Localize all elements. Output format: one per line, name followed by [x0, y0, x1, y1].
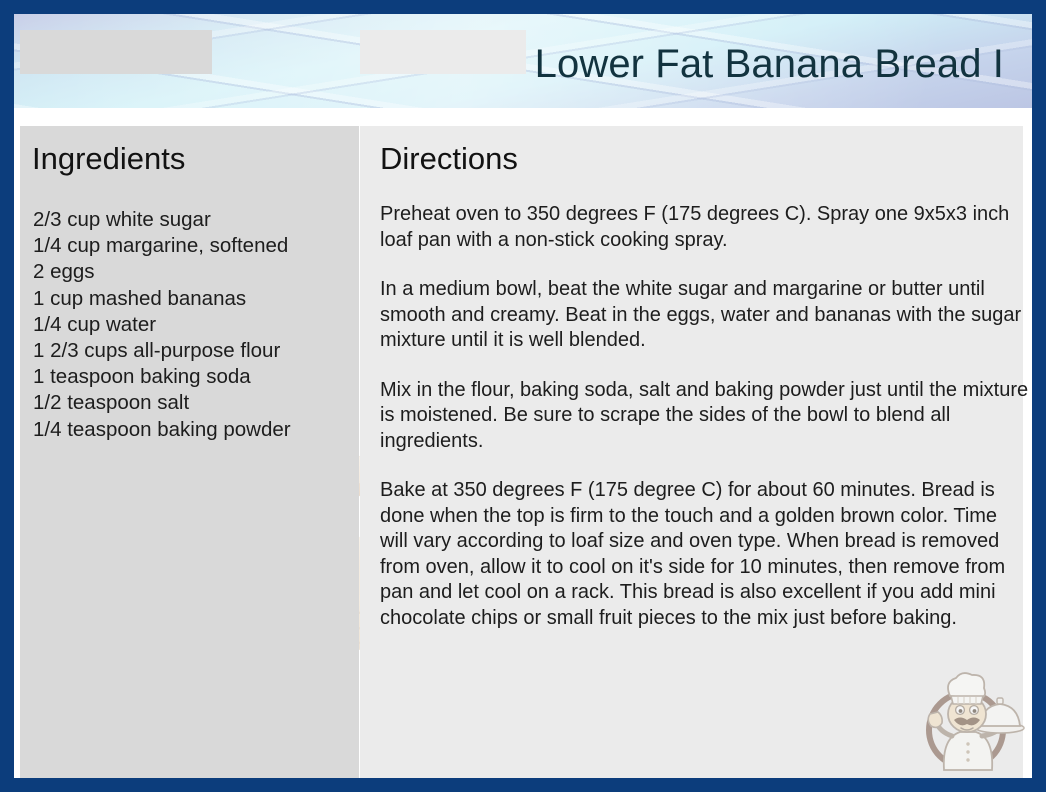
- directions-heading: Directions: [380, 141, 518, 177]
- list-item: 1/2 teaspoon salt: [33, 390, 353, 416]
- list-item: 1/4 cup margarine, softened: [33, 233, 353, 259]
- direction-step: In a medium bowl, beat the white sugar a…: [380, 277, 1030, 354]
- page-title: Lower Fat Banana Bread I: [535, 42, 1004, 87]
- direction-step: Preheat oven to 350 degrees F (175 degre…: [380, 202, 1030, 253]
- list-item: 1 cup mashed bananas: [33, 286, 353, 312]
- chef-with-platter-logo: [914, 662, 1026, 776]
- list-item: 1/4 cup water: [33, 312, 353, 338]
- slide-content-area: Lower Fat Banana Bread I: [14, 14, 1032, 778]
- list-item: 1 2/3 cups all-purpose flour: [33, 338, 353, 364]
- ingredients-tab-background: [20, 30, 212, 74]
- directions-body: Preheat oven to 350 degrees F (175 degre…: [380, 202, 1030, 631]
- ingredients-heading: Ingredients: [32, 141, 185, 177]
- recipe-slide: Lower Fat Banana Bread I: [0, 0, 1046, 792]
- list-item: 2 eggs: [33, 259, 353, 285]
- list-item: 1/4 teaspoon baking powder: [33, 417, 353, 443]
- direction-step: Mix in the flour, baking soda, salt and …: [380, 378, 1030, 455]
- list-item: 1 teaspoon baking soda: [33, 364, 353, 390]
- directions-tab-background: [360, 30, 526, 74]
- list-item: 2/3 cup white sugar: [33, 207, 353, 233]
- ingredients-list: 2/3 cup white sugar 1/4 cup margarine, s…: [33, 207, 353, 443]
- direction-step: Bake at 350 degrees F (175 degree C) for…: [380, 478, 1030, 631]
